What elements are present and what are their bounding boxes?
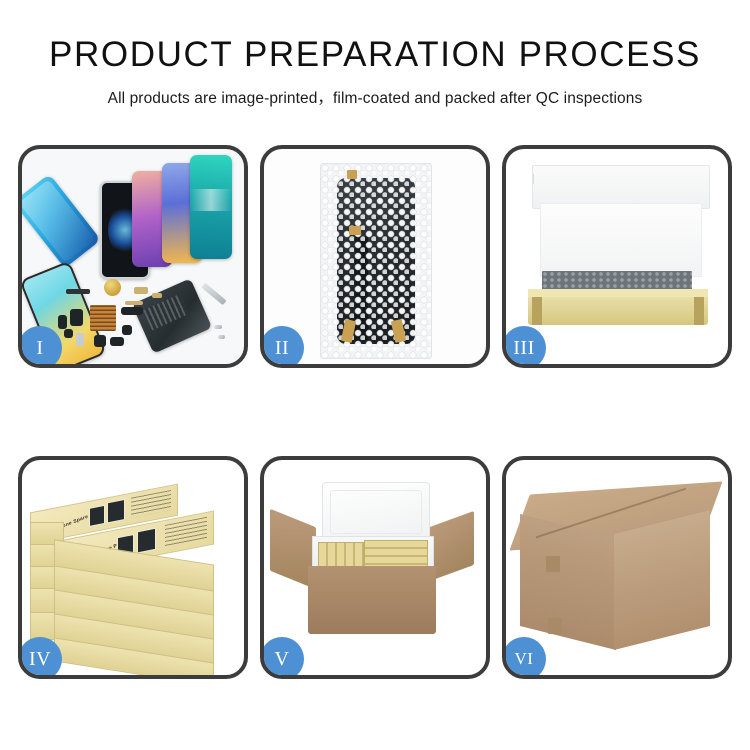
step-badge-4: IV: [18, 637, 62, 679]
step-card-2[interactable]: II: [260, 145, 490, 368]
steps-grid: I II: [18, 145, 732, 679]
button-icon: [64, 329, 73, 338]
carton-tape-upper-icon: [546, 556, 560, 572]
styrofoam-lid-icon: [322, 482, 430, 542]
screw-2-icon: [218, 335, 225, 339]
sensor-icon: [122, 325, 132, 335]
box-thumb-back-1: [89, 505, 105, 527]
step-badge-1: I: [18, 326, 62, 368]
screw-icon: [214, 325, 222, 329]
gold-coil-icon: [104, 279, 121, 296]
flex-cable-icon: [58, 315, 67, 329]
tape-top-icon: [347, 170, 357, 179]
screwdriver-icon: [201, 283, 226, 306]
carton-body-icon: [308, 566, 436, 634]
tape-middle-icon: [349, 226, 361, 235]
phone-blue-adhesive-icon: [22, 174, 101, 269]
speaker-icon: [94, 335, 106, 347]
page-title: PRODUCT PREPARATION PROCESS: [0, 36, 750, 75]
screen-flex-cable-icon: [355, 236, 368, 340]
camera-module-icon: [70, 309, 83, 326]
gold-ribbon-icon: [125, 301, 143, 305]
white-foam-sheet-icon: [540, 203, 702, 277]
carton-left-face-icon: [520, 514, 616, 650]
step-card-1[interactable]: I: [18, 145, 248, 368]
product-preparation-infographic: PRODUCT PREPARATION PROCESS All products…: [0, 0, 750, 750]
taptic-engine-icon: [110, 337, 124, 346]
box-thumb-front-2: [137, 528, 156, 554]
step-badge-6: VI: [502, 637, 546, 679]
step-badge-3: III: [502, 326, 546, 368]
header: PRODUCT PREPARATION PROCESS All products…: [0, 0, 750, 108]
box-spec-lines-front: [165, 517, 207, 547]
phone-green-icon: [190, 155, 232, 259]
sim-tray-icon: [76, 333, 84, 346]
tape-lower-right-icon: [391, 319, 406, 343]
step-badge-5: V: [260, 637, 304, 679]
kraft-box-front-icon: [528, 297, 708, 325]
step-card-5[interactable]: V: [260, 456, 490, 679]
page-subtitle: All products are image-printed，film-coat…: [0, 86, 750, 108]
carton-right-face-icon: [614, 510, 710, 650]
step-card-6[interactable]: VI: [502, 456, 732, 679]
tan-flex-small-icon: [152, 293, 162, 298]
ribbon-cable-icon: [121, 307, 143, 315]
step-badge-2: II: [260, 326, 304, 368]
bubble-wrap-bag-icon: [320, 163, 432, 359]
step-card-3[interactable]: III: [502, 145, 732, 368]
step-card-4[interactable]: Mobile Phone Spare Parts Mobile Phone Sp…: [18, 456, 248, 679]
box-spec-lines-back: [131, 490, 171, 518]
logic-board-icon: [90, 305, 116, 331]
connector-bar-icon: [66, 289, 90, 294]
tape-lower-left-icon: [341, 319, 356, 343]
box-thumb-back-2: [107, 499, 125, 523]
carton-tape-lower-icon: [548, 618, 562, 634]
tan-flex-icon: [134, 287, 148, 294]
